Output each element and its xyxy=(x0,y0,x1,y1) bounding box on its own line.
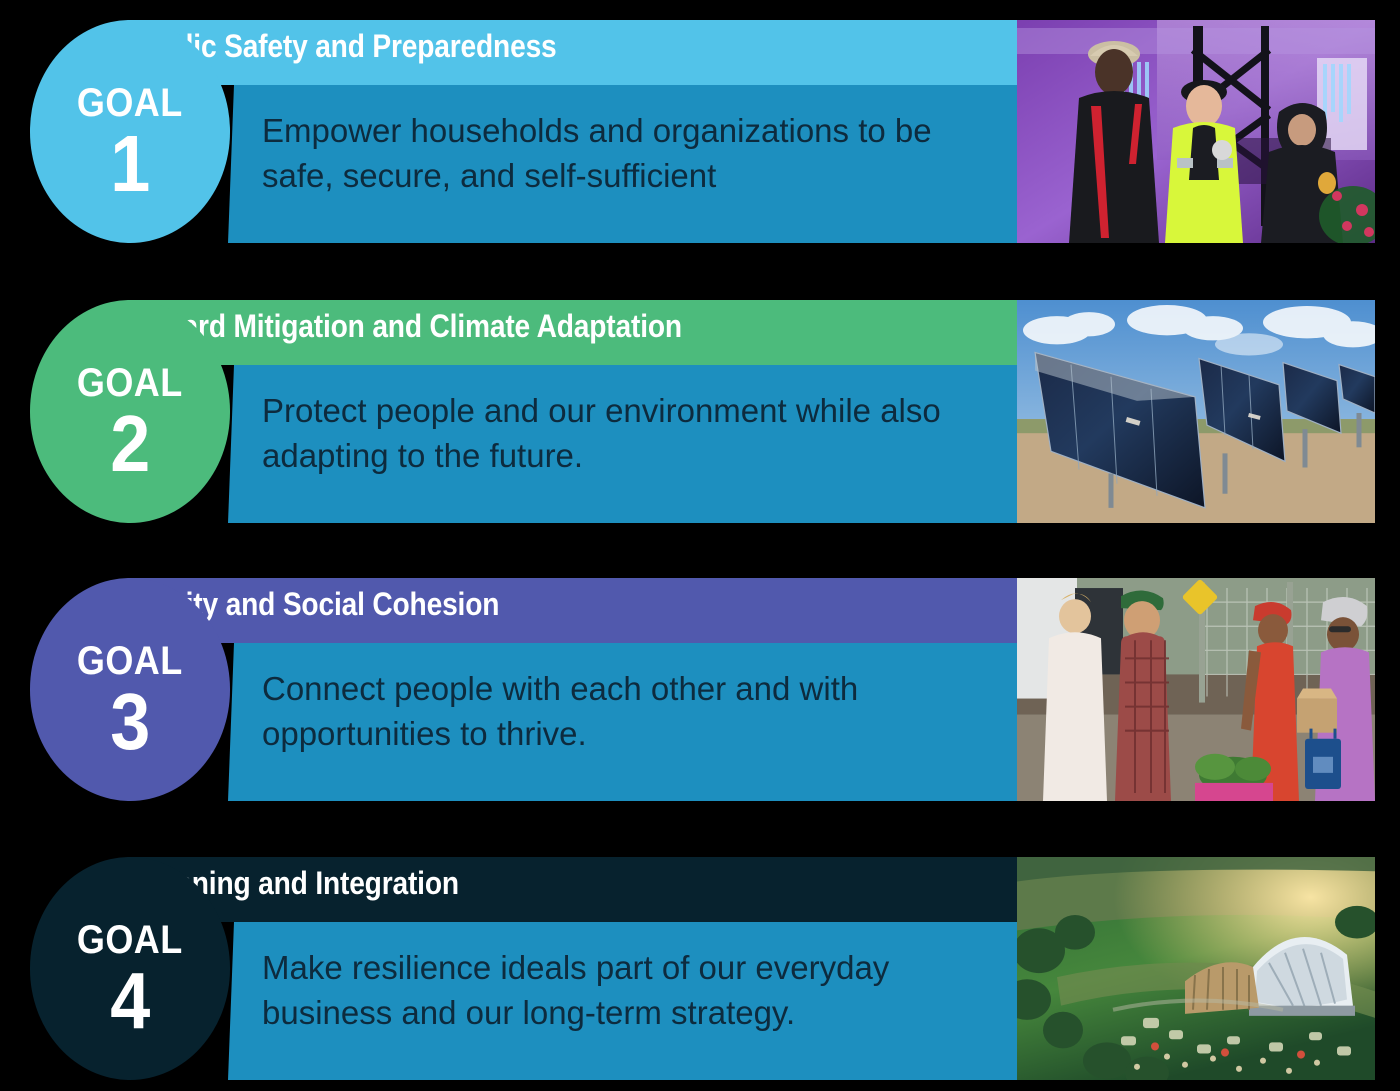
goal-label: GOAL xyxy=(77,83,183,123)
goal-description: Connect people with each other and with … xyxy=(262,666,992,756)
goal-title: Hazard Mitigation and Climate Adaptation xyxy=(133,308,682,345)
goal-row: Public Safety and Preparedness Empower h… xyxy=(0,20,1400,243)
goal-label: GOAL xyxy=(77,920,183,960)
goal-description: Protect people and our environment while… xyxy=(262,388,992,478)
goal-label: GOAL xyxy=(77,363,183,403)
photo-farmers-market-produce-line-icon xyxy=(1017,578,1375,801)
goal-number: 2 xyxy=(110,405,150,483)
goal-number: 4 xyxy=(110,962,150,1040)
goal-row: Equity and Social Cohesion Connect peopl… xyxy=(0,578,1400,800)
goal-badge[interactable]: GOAL 1 xyxy=(30,20,230,243)
goal-number: 1 xyxy=(110,125,150,203)
goal-badge[interactable]: GOAL 4 xyxy=(30,857,230,1080)
photo-community-police-outreach-icon xyxy=(1017,20,1375,243)
goal-photo xyxy=(1017,20,1375,243)
goal-badge[interactable]: GOAL 3 xyxy=(30,578,230,801)
photo-aerial-park-pavilion-event-icon xyxy=(1017,857,1375,1080)
goal-photo xyxy=(1017,300,1375,523)
goal-badge[interactable]: GOAL 2 xyxy=(30,300,230,523)
goal-description: Make resilience ideals part of our every… xyxy=(262,945,992,1035)
goals-infographic: Public Safety and Preparedness Empower h… xyxy=(0,0,1400,1091)
goal-photo xyxy=(1017,857,1375,1080)
goal-description: Empower households and organizations to … xyxy=(262,108,992,198)
goal-photo xyxy=(1017,578,1375,801)
goal-label: GOAL xyxy=(77,641,183,681)
goal-number: 3 xyxy=(110,683,150,761)
goal-row: Planning and Integration Make resilience… xyxy=(0,857,1400,1076)
photo-solar-panel-array-icon xyxy=(1017,300,1375,523)
goal-row: Hazard Mitigation and Climate Adaptation… xyxy=(0,300,1400,521)
